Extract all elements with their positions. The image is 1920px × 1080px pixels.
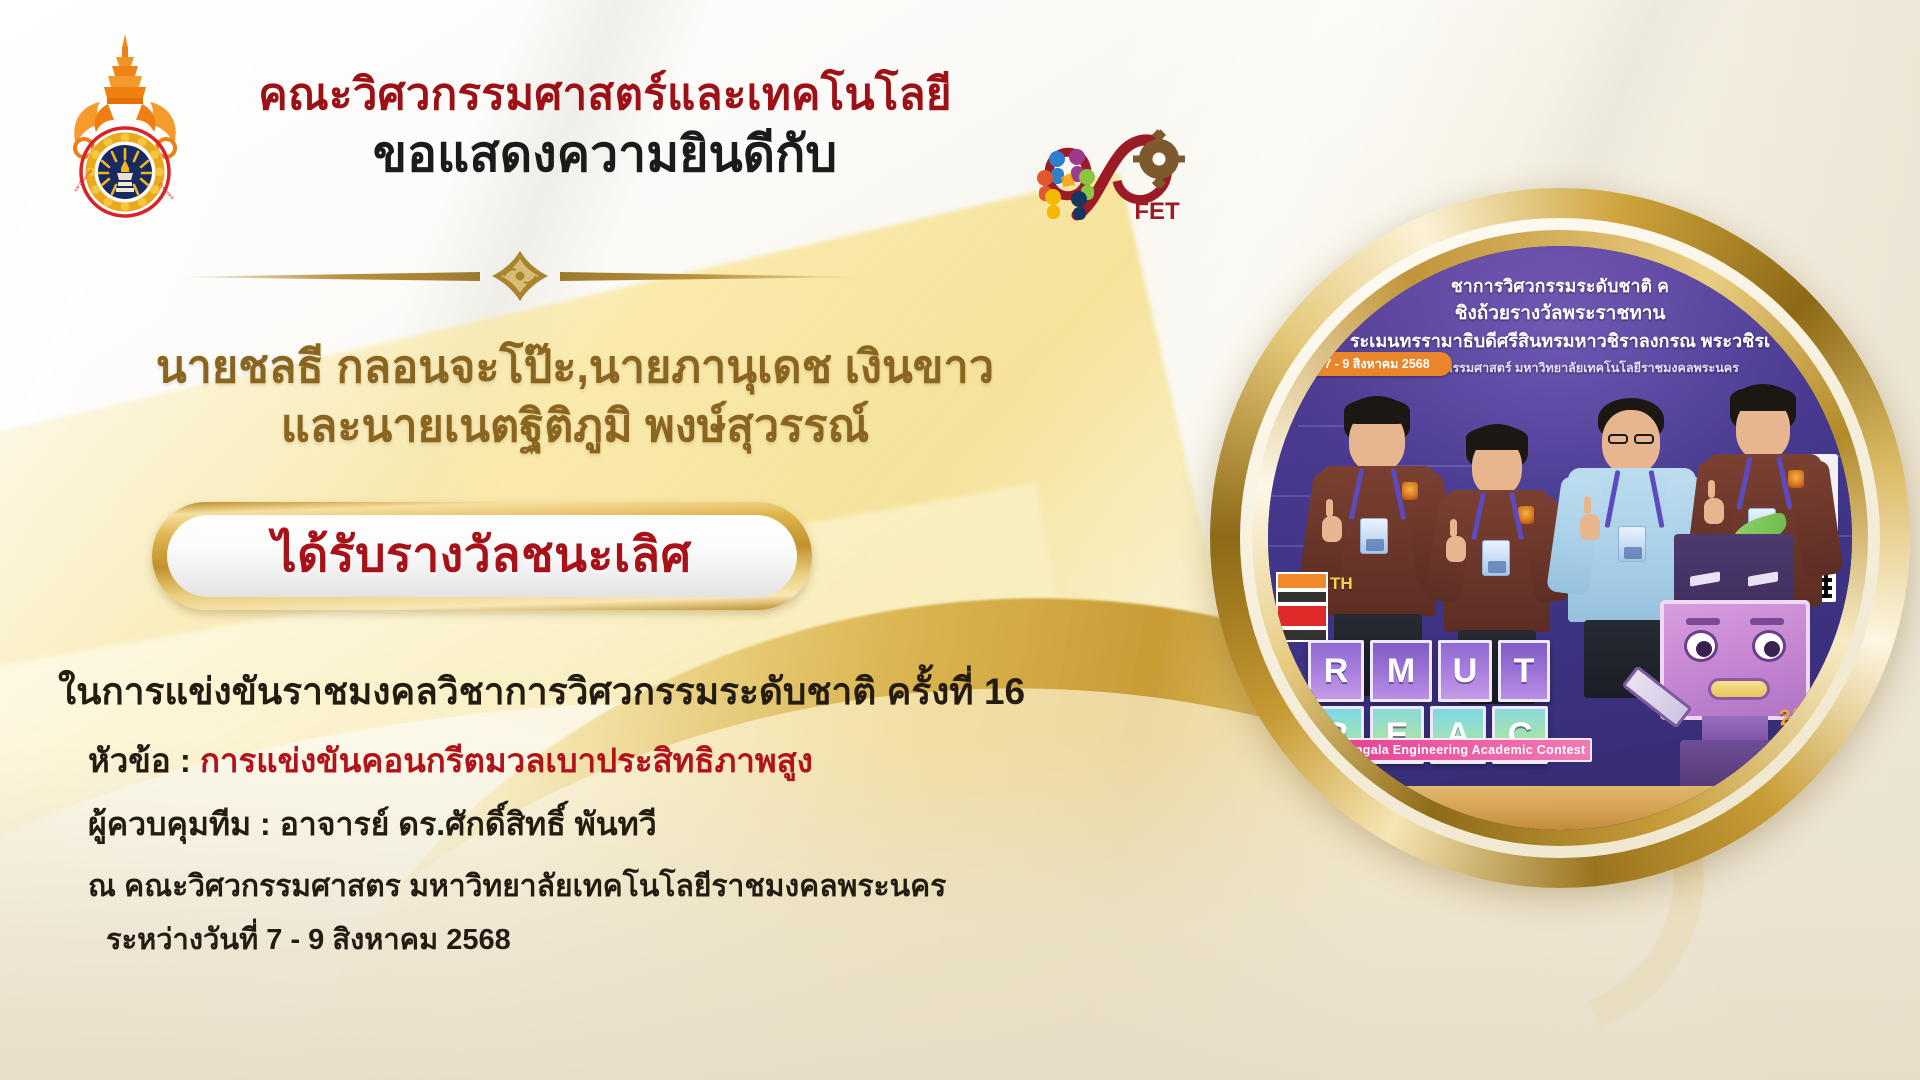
- mascot-neck: [1702, 716, 1768, 742]
- faculty-title: คณะวิศวกรรมศาสตร์และเทคโนโลยี: [210, 72, 1000, 118]
- header-row: มหาวิทยาลัย ราชมงคล คณะวิศวกรรมศาสตร์และ…: [40, 24, 1180, 224]
- logotype-ordinal: TH: [1330, 574, 1353, 594]
- logotype-letter: T: [1498, 640, 1550, 702]
- award-pill-frame: ได้รับรางวัลชนะเลิศ: [152, 502, 812, 610]
- venue-line: ณ คณะวิศวกรรมศาสตร มหาวิทยาลัยเทคโนโลยีร…: [88, 870, 1168, 903]
- backdrop-line-3: ระเมนทรรามาธิบดีศรีสินทรมหาวชิราลงกรณ พร…: [1268, 326, 1852, 355]
- thai-flag-icon: [1276, 572, 1324, 642]
- awardee-name-line-1: นายชลธี กลอนจะโป๊ะ,นายภานุเดช เงินขาว: [30, 338, 1120, 397]
- dates-line: ระหว่างวันที่ 7 - 9 สิงหาคม 2568: [106, 925, 1168, 957]
- backdrop-line-1: ชาการวิศวกรรมระดับชาติ ค: [1268, 272, 1852, 300]
- fet-logo-text: FET: [1134, 198, 1180, 225]
- details-block: ในการแข่งขันราชมงคลวิชาการวิศวกรรมระดับช…: [58, 672, 1168, 957]
- award-pill-inner: ได้รับรางวัลชนะเลิศ: [167, 515, 797, 597]
- award-banner: ได้รับรางวัลชนะเลิศ: [152, 502, 812, 610]
- competition-line: ในการแข่งขันราชมงคลวิชาการวิศวกรรมระดับช…: [58, 672, 1168, 713]
- logotype-letter: M: [1370, 640, 1432, 702]
- main-content: มหาวิทยาลัย ราชมงคล คณะวิศวกรรมศาสตร์และ…: [0, 0, 1180, 1080]
- logotype-letter: U: [1438, 640, 1492, 702]
- awardee-names: นายชลธี กลอนจะโป๊ะ,นายภานุเดช เงินขาว แล…: [30, 338, 1120, 455]
- team-photo: ชาการวิศวกรรมระดับชาติ ค ชิงถ้วยรางวัลพร…: [1268, 246, 1852, 830]
- advisor-line: ผู้ควบคุมทีม : อาจารย์ ดร.ศักดิ์สิทธิ์ พ…: [88, 807, 1168, 842]
- ornament-divider-icon: [160, 248, 880, 304]
- mascot-upper-head: [1674, 534, 1794, 610]
- event-logotype: TH R M U T R E A C Rajamangala Engineeri…: [1274, 578, 1604, 778]
- mascot-body: [1680, 740, 1790, 788]
- photo-scene: ชาการวิศวกรรมระดับชาติ ค ชิงถ้วยรางวัลพร…: [1268, 246, 1852, 830]
- topic-value: การแข่งขันคอนกรีตมวลเบาประสิทธิภาพสูง: [200, 742, 813, 779]
- topic-line: หัวข้อ : การแข่งขันคอนกรีตมวลเบาประสิทธิ…: [88, 743, 1168, 779]
- congratulations-title: ขอแสดงความยินดีกับ: [210, 128, 1000, 181]
- robot-mascot-icon: 2025: [1640, 534, 1830, 784]
- logotype-word-top: R M U T: [1308, 640, 1550, 702]
- fet-logo-icon: FET: [1025, 119, 1205, 229]
- logotype-tagline: Rajamangala Engineering Academic Contest: [1302, 738, 1592, 762]
- photo-medallion: ชาการวิศวกรรมระดับชาติ ค ชิงถ้วยรางวัลพร…: [1210, 188, 1910, 888]
- header-titles: คณะวิศวกรรมศาสตร์และเทคโนโลยี ขอแสดงความ…: [210, 72, 1000, 181]
- awardee-name-line-2: และนายเนตฐิติภูมิ พงษ์สุวรรณ์: [30, 397, 1120, 456]
- award-text: ได้รับรางวัลชนะเลิศ: [272, 532, 691, 580]
- backdrop-line-2: ชิงถ้วยรางวัลพระราชทาน: [1268, 298, 1852, 328]
- topic-label: หัวข้อ :: [88, 742, 200, 779]
- logotype-letter: R: [1308, 640, 1364, 702]
- stage-floor: [1268, 786, 1852, 830]
- university-emblem-icon: มหาวิทยาลัย ราชมงคล: [60, 32, 190, 222]
- backdrop-date-badge: 7 - 9 สิงหาคม 2568: [1302, 352, 1452, 376]
